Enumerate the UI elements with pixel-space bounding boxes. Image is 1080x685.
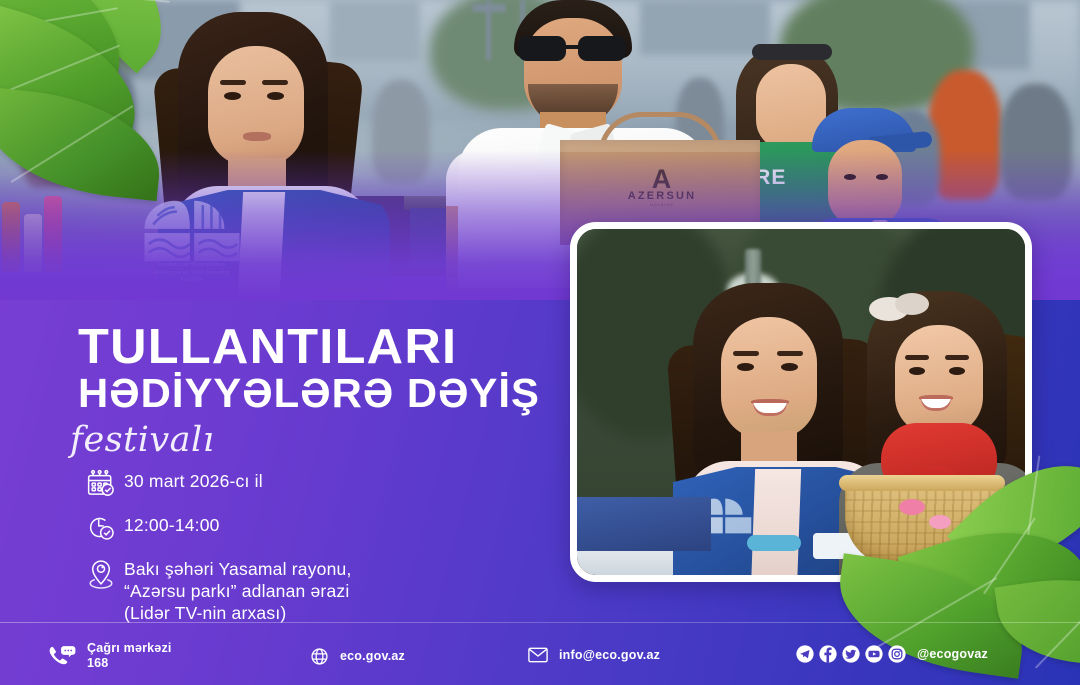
eyebrow — [777, 351, 803, 356]
facebook-icon[interactable] — [819, 645, 837, 663]
telegram-icon[interactable] — [796, 645, 814, 663]
eye — [737, 363, 754, 371]
calendar-check-icon — [78, 468, 124, 499]
vest-opening — [751, 469, 801, 582]
call-center-info[interactable]: Çağrı mərkəzi 168 — [48, 641, 172, 671]
eye — [267, 92, 284, 100]
face — [208, 46, 304, 166]
detail-time-text: 12:00-14:00 — [124, 512, 220, 536]
location-line-2: “Azərsu parkı” adlanan ərazi — [124, 580, 352, 602]
website-info[interactable]: eco.gov.az — [310, 647, 405, 666]
detail-row-location: Bakı şəhəri Yasamal rayonu, “Azərsu park… — [78, 556, 548, 624]
twitter-icon[interactable] — [842, 645, 860, 663]
social-handle-text: @ecogovaz — [917, 647, 988, 661]
eyebrow — [733, 351, 759, 356]
detail-row-date: 30 mart 2026-cı il — [78, 468, 548, 499]
call-center-number: 168 — [87, 656, 172, 671]
eyebrow — [220, 80, 246, 85]
email-info[interactable]: info@eco.gov.az — [528, 647, 660, 663]
card-donation-box — [571, 497, 711, 551]
footer-bar: Çağrı mərkəzi 168 eco.gov.az inf — [0, 623, 1080, 685]
email-text: info@eco.gov.az — [559, 648, 660, 663]
headline-block: TULLANTILARI HƏDİYYƏLƏRƏ DƏYİŞ festivalı — [78, 322, 558, 462]
face — [895, 325, 983, 435]
social-links: @ecogovaz — [796, 645, 988, 663]
mail-icon — [528, 647, 548, 663]
phone-chat-icon — [48, 645, 76, 667]
globe-icon — [310, 647, 329, 666]
detail-row-time: 12:00-14:00 — [78, 512, 548, 543]
location-line-1: Bakı şəhəri Yasamal rayonu, — [124, 558, 352, 580]
detail-date-text: 30 mart 2026-cı il — [124, 468, 263, 492]
eyebrow — [905, 355, 929, 360]
eye — [949, 367, 965, 375]
sunglasses-icon — [516, 36, 630, 62]
headline-line-2: HƏDİYYƏLƏRƏ DƏYİŞ — [78, 370, 568, 416]
card-ribbon — [747, 535, 801, 551]
instagram-icon[interactable] — [888, 645, 906, 663]
poster-root: Azərbaycan Respublikası Ekologiya və Təb… — [0, 0, 1080, 685]
location-line-3: (Lidər TV-nin arxası) — [124, 602, 352, 624]
lips — [243, 132, 271, 141]
eyebrow — [945, 355, 969, 360]
event-details: 30 mart 2026-cı il 12:00-14:00 — [78, 468, 548, 637]
headline-script: festivalı — [70, 418, 558, 462]
eye — [909, 367, 925, 375]
hair-bow — [895, 293, 929, 315]
call-center-text: Çağrı mərkəzi 168 — [87, 641, 172, 671]
clock-check-icon — [78, 512, 124, 543]
headline-line-1: TULLANTILARI — [78, 322, 572, 372]
basket-rim — [839, 475, 1005, 491]
eyebrow — [262, 80, 288, 85]
website-text: eco.gov.az — [340, 649, 405, 664]
detail-location-text: Bakı şəhəri Yasamal rayonu, “Azərsu park… — [124, 556, 352, 624]
eye — [781, 363, 798, 371]
youtube-icon[interactable] — [865, 645, 883, 663]
call-center-label: Çağrı mərkəzi — [87, 641, 172, 656]
pink-ribbon — [929, 515, 951, 529]
eye — [224, 92, 241, 100]
location-pin-icon — [78, 556, 124, 589]
pink-ribbon — [899, 499, 925, 515]
face — [721, 317, 817, 439]
sunglasses-icon — [752, 44, 832, 60]
